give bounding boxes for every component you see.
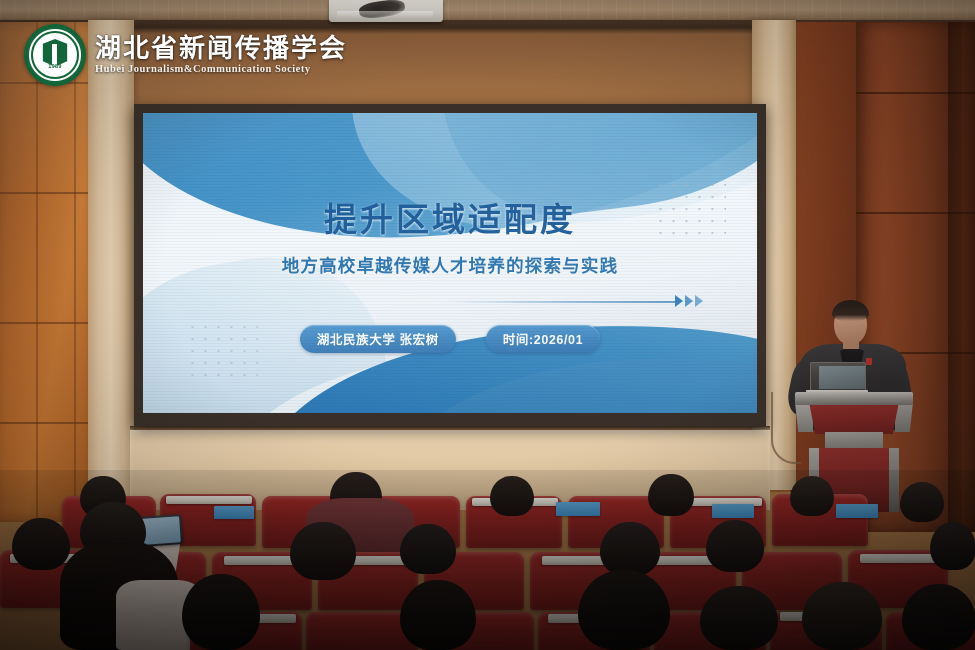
slide-title: 提升区域适配度 (143, 193, 757, 241)
slide-subtitle: 地方高校卓越传媒人才培养的探索与实践 (143, 253, 757, 278)
emblem-year: 1989 (24, 64, 86, 70)
presenter-laptop (806, 362, 868, 396)
presenter-hair (832, 300, 869, 321)
hubei-journalism-society-emblem-icon: 1989 (24, 24, 86, 86)
laptop-screen (819, 366, 865, 389)
ceiling-projector (329, 0, 443, 22)
slide-divider (453, 295, 733, 309)
audience-area (0, 470, 975, 650)
audience-shading (0, 470, 975, 650)
org-name-en: Hubei Journalism&Communication Society (95, 64, 347, 75)
watermark-logo: 1989 湖北省新闻传播学会 Hubei Journalism&Communic… (24, 24, 347, 86)
lecture-hall-photo: 提升区域适配度 地方高校卓越传媒人才培养的探索与实践 湖北民族大学 张宏树 时间… (0, 0, 975, 650)
slide-badge-row: 湖北民族大学 张宏树 时间:2026/01 (143, 325, 757, 353)
ceiling-tile-lines (0, 0, 975, 20)
chevron-right-triple-icon (675, 295, 703, 307)
podium-top-surface (795, 392, 913, 405)
podium-front-panel (809, 402, 899, 434)
watermark-text: 湖北省新闻传播学会 Hubei Journalism&Communication… (95, 35, 347, 74)
affiliation-badge: 湖北民族大学 张宏树 (300, 325, 456, 353)
org-name-cn: 湖北省新闻传播学会 (95, 35, 347, 62)
date-badge: 时间:2026/01 (486, 325, 600, 353)
divider-line (453, 301, 678, 303)
left-pillar (88, 20, 134, 540)
projection-screen: 提升区域适配度 地方高校卓越传媒人才培养的探索与实践 湖北民族大学 张宏树 时间… (143, 113, 757, 413)
